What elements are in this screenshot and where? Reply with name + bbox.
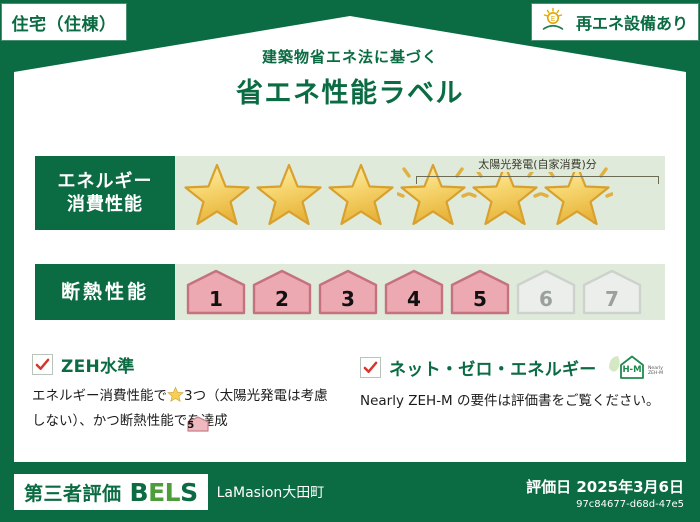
footer-left: 第三者評価 BELS LaMasion大田町 xyxy=(14,474,324,510)
zeh-m-logo-text: H-M xyxy=(622,365,641,375)
insulation-performance-row: 断熱性能 1234567 xyxy=(35,264,665,320)
check-icon xyxy=(32,354,53,375)
insulation-level-5: 5 xyxy=(449,268,511,316)
insulation-level-number: 4 xyxy=(383,287,445,311)
insulation-level-number: 7 xyxy=(581,287,643,311)
solar-sun-icon: E xyxy=(542,7,570,38)
insulation-performance-label: 断熱性能 xyxy=(35,264,175,320)
zeh-m-caption-2: ZEH-M xyxy=(648,370,663,376)
star-4 xyxy=(397,156,469,230)
star-5 xyxy=(469,156,541,230)
badge-building-type-label: 住宅（住棟） xyxy=(12,10,117,35)
third-party-eval-label: 第三者評価 xyxy=(24,479,122,506)
evaluation-date: 評価日 2025年3月6日 xyxy=(526,476,684,497)
insulation-level-3: 3 xyxy=(317,268,379,316)
note-zeh-header: ZEH水準 xyxy=(32,352,337,377)
evaluation-id: 97c84677-d68d-47e5 xyxy=(526,499,684,510)
note-zeh-title: ZEH水準 xyxy=(61,352,135,377)
note-net-zero-body: Nearly ZEH-M の要件は評価書をご覧ください。 xyxy=(360,391,670,413)
insulation-level-4: 4 xyxy=(383,268,445,316)
star-rating xyxy=(175,156,665,230)
check-icon xyxy=(360,357,381,378)
footer-divider xyxy=(14,462,686,464)
star-1 xyxy=(181,156,253,230)
zeh-m-house-logo: H-M Nearly ZEH-M xyxy=(605,352,667,382)
note-zeh-text-1: エネルギー消費性能で xyxy=(32,388,167,404)
note-net-zero-energy: ネット・ゼロ・エネルギー H-M Nearly ZEH-M Nearly ZEH… xyxy=(360,352,670,413)
insulation-level-2: 2 xyxy=(251,268,313,316)
energy-performance-label: エネルギー 消費性能 xyxy=(35,156,175,230)
insulation-level-6: 6 xyxy=(515,268,577,316)
star-2 xyxy=(253,156,325,230)
badge-building-type: 住宅（住棟） xyxy=(2,4,126,40)
note-net-zero-title: ネット・ゼロ・エネルギー xyxy=(389,355,597,380)
energy-performance-row: エネルギー 消費性能 太陽光発電(自家消費)分 xyxy=(35,156,665,230)
svg-text:E: E xyxy=(551,15,555,23)
bels-certification-box: 第三者評価 BELS xyxy=(14,474,208,510)
energy-performance-label: 住宅（住棟） E 再エネ設備あり 建築物省エネ法に基づく 省エネ性能ラベル xyxy=(0,0,700,522)
energy-star-track: 太陽光発電(自家消費)分 xyxy=(175,156,665,230)
bels-logo: BELS xyxy=(130,478,198,507)
insulation-level-number: 6 xyxy=(515,287,577,311)
badge-renewable-equipment: E 再エネ設備あり xyxy=(532,4,698,40)
note-net-zero-header: ネット・ゼロ・エネルギー H-M Nearly ZEH-M xyxy=(360,352,670,382)
footer: 第三者評価 BELS LaMasion大田町 評価日 2025年3月6日 97c… xyxy=(0,466,700,522)
insulation-level-number: 5 xyxy=(449,287,511,311)
page-title: 省エネ性能ラベル xyxy=(0,71,700,110)
energy-label-line2: 消費性能 xyxy=(67,193,143,216)
energy-label-line1: エネルギー xyxy=(58,170,153,193)
note-zeh-standard: ZEH水準 エネルギー消費性能で3つ（太陽光発電は考慮しない）、かつ断熱性能で5… xyxy=(32,352,337,436)
footer-right: 評価日 2025年3月6日 97c84677-d68d-47e5 xyxy=(526,476,684,510)
property-name: LaMasion大田町 xyxy=(217,482,325,502)
star-6 xyxy=(541,156,613,230)
insulation-level-number: 3 xyxy=(317,287,379,311)
badge-renewable-label: 再エネ設備あり xyxy=(576,10,688,34)
title-subtitle: 建築物省エネ法に基づく xyxy=(0,46,700,67)
insulation-level-scale: 1234567 xyxy=(175,264,643,320)
insulation-level-1: 1 xyxy=(185,268,247,316)
star-3 xyxy=(325,156,397,230)
insulation-level-track: 1234567 xyxy=(175,264,665,320)
insulation-level-7: 7 xyxy=(581,268,643,316)
insulation-level-number: 1 xyxy=(185,287,247,311)
title-block: 建築物省エネ法に基づく 省エネ性能ラベル xyxy=(0,46,700,110)
star-icon xyxy=(167,386,184,411)
insulation-level-number: 2 xyxy=(251,287,313,311)
note-zeh-body: エネルギー消費性能で3つ（太陽光発電は考慮しない）、かつ断熱性能で5を達成 xyxy=(32,386,337,436)
